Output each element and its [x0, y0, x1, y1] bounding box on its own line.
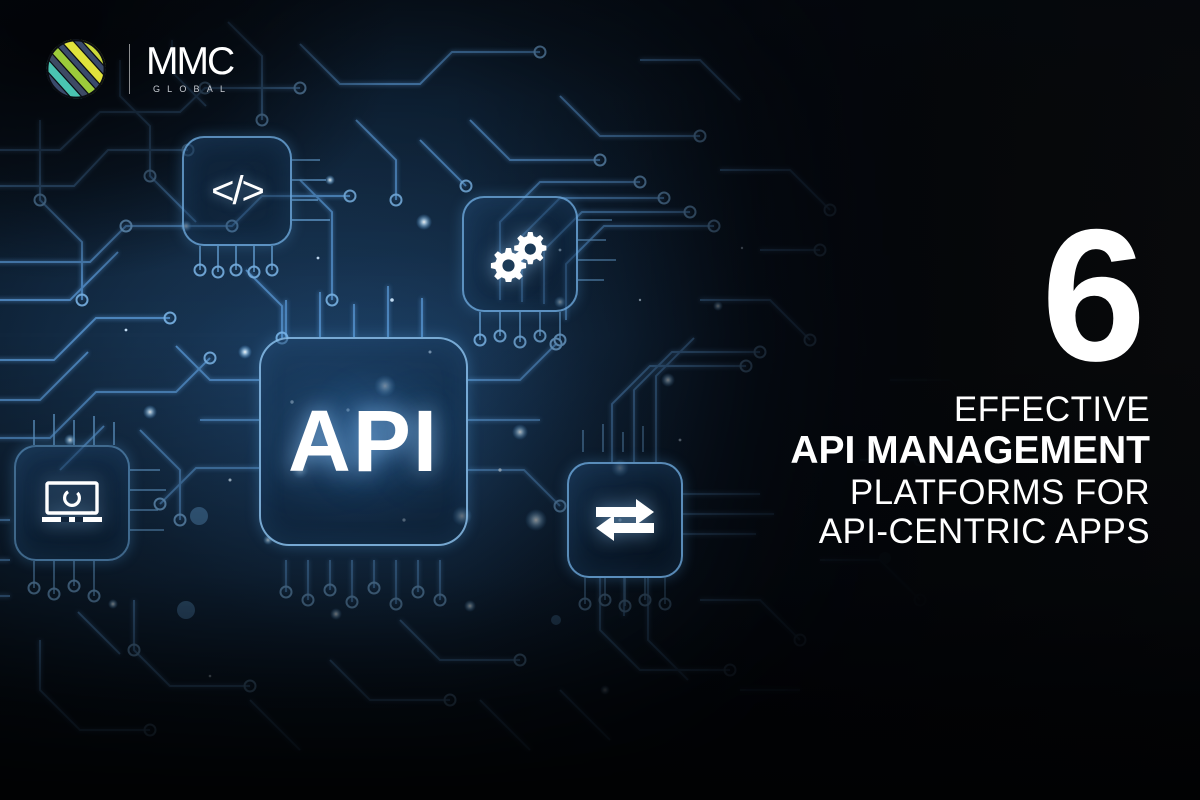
headline-number: 6 — [590, 218, 1142, 372]
headline-lines: EFFECTIVE API MANAGEMENT PLATFORMS FOR A… — [590, 390, 1150, 551]
api-label: API — [288, 398, 439, 485]
logo-wordmark: MMC GLOBAL — [146, 44, 233, 94]
mmc-sphere-logo-icon — [45, 38, 107, 100]
banner-root: </> API — [0, 0, 1200, 800]
code-chip: </> — [182, 136, 292, 246]
headline-line-2: API MANAGEMENT — [590, 429, 1150, 473]
gears-chip — [462, 196, 578, 312]
code-brackets-icon: </> — [211, 169, 263, 214]
brand-logo[interactable]: MMC GLOBAL — [45, 38, 233, 100]
logo-tagline: GLOBAL — [147, 84, 232, 94]
logo-name: MMC — [146, 44, 233, 80]
device-chip — [14, 445, 130, 561]
headline-line-3: PLATFORMS FOR — [590, 473, 1150, 512]
headline-block: 6 EFFECTIVE API MANAGEMENT PLATFORMS FOR… — [590, 218, 1150, 551]
headline-line-4: API-CENTRIC APPS — [590, 512, 1150, 551]
gears-icon — [490, 226, 550, 282]
logo-divider — [129, 44, 130, 94]
laptop-loading-icon — [41, 481, 103, 525]
api-chip: API — [259, 337, 468, 546]
headline-line-1: EFFECTIVE — [590, 390, 1150, 429]
